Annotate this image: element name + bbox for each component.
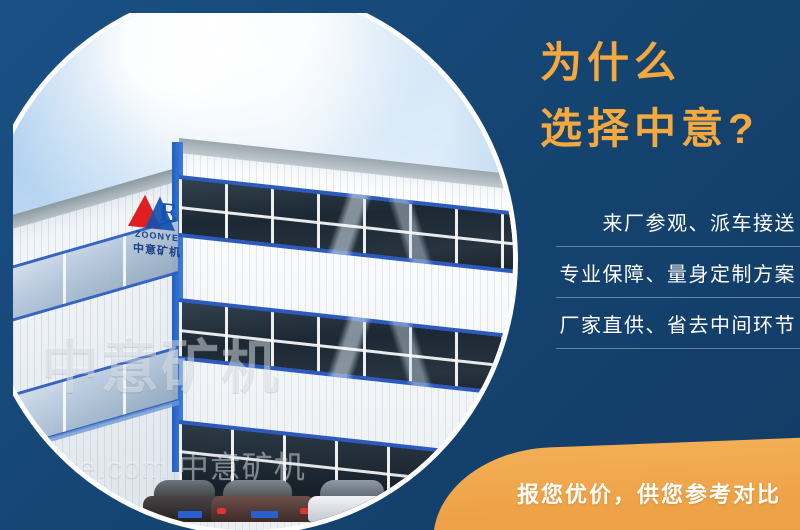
feature-item: 来厂参观、派车接送 — [528, 196, 800, 247]
headline-line-1: 为什么 — [540, 42, 759, 84]
feature-item: 厂家直供、省去中间环节 — [528, 298, 800, 349]
feature-item: 专业保障、量身定制方案 — [528, 247, 800, 298]
feature-label: 来厂参观、派车接送 — [603, 207, 797, 236]
car — [211, 464, 315, 522]
headline: 为什么 选择中意? — [540, 42, 759, 150]
headline-line-2: 选择中意? — [540, 108, 759, 150]
promo-banner: E ZOONYE 中意矿机 — [0, 0, 800, 530]
feature-label: 专业保障、量身定制方案 — [560, 258, 797, 287]
logo-mark-icon: E — [126, 191, 188, 234]
feature-divider — [556, 348, 800, 349]
feature-label: 厂家直供、省去中间环节 — [560, 309, 797, 338]
logo-letter: E — [159, 198, 177, 227]
offer-ribbon-label: 报您优价，供您参考对比 — [498, 477, 800, 509]
parked-cars — [133, 452, 433, 522]
company-logo: E ZOONYE 中意矿机 — [111, 189, 203, 271]
circular-photo-mask: E ZOONYE 中意矿机 — [13, 13, 513, 530]
feature-list: 来厂参观、派车接送 专业保障、量身定制方案 厂家直供、省去中间环节 — [528, 196, 800, 349]
